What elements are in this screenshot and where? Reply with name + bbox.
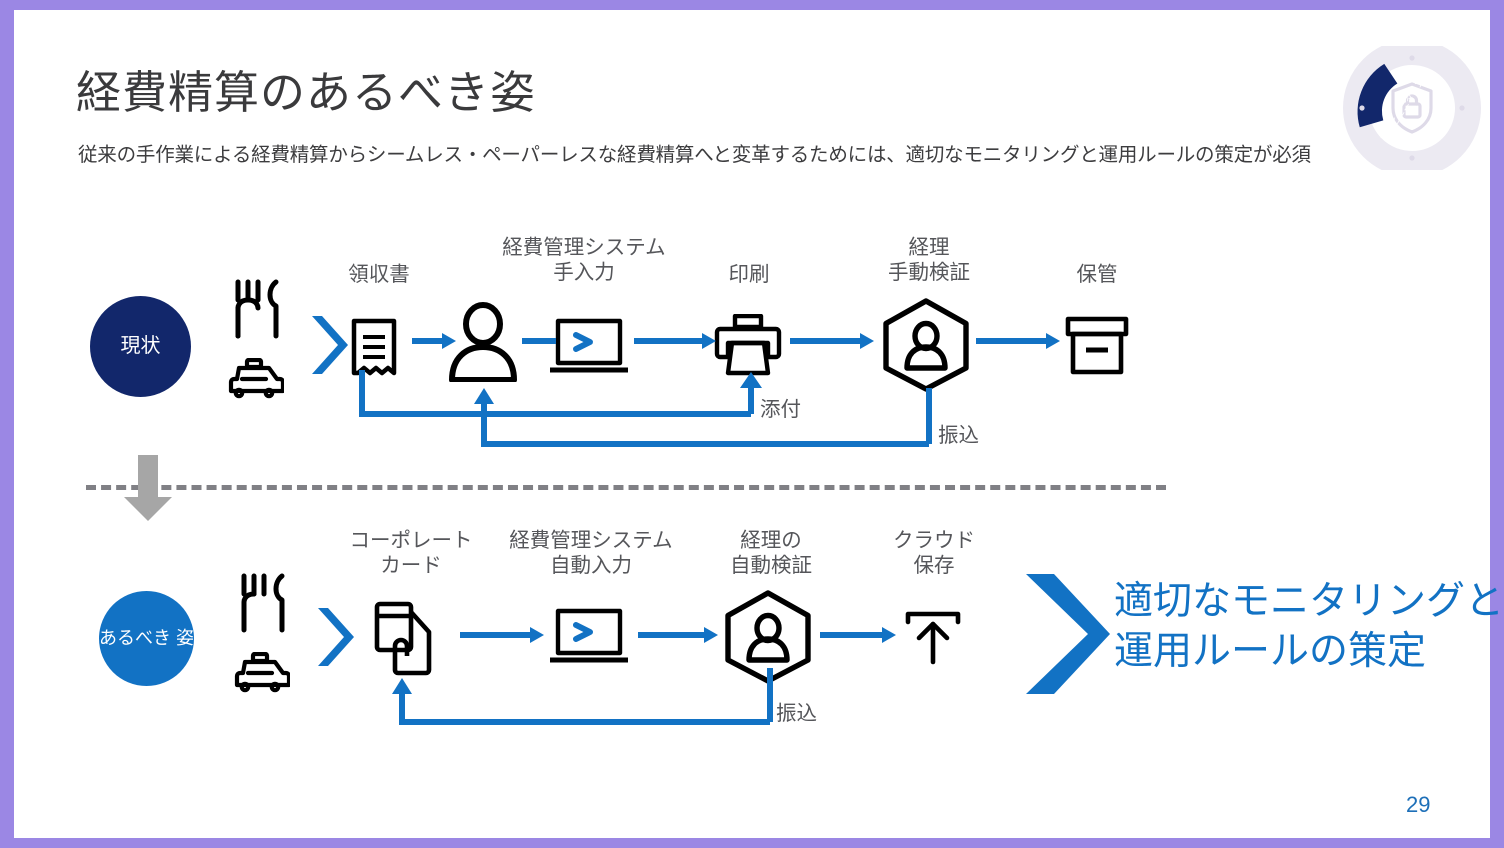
callout-chevron-icon [1020,570,1110,698]
cutlery-icon [232,572,290,634]
callout-line-1: 適切なモニタリングと [1114,577,1464,627]
transition-down-arrow-icon [122,455,174,523]
node-label-corporate-card: コーポレート カード [336,528,486,578]
node-label-accounting-manual: 経理 手動検証 [854,235,1004,285]
governance-badge: 改善とモニタリング [1342,46,1482,170]
flow-arrow [976,332,1062,350]
flow-arrow [460,626,546,644]
node-label-print: 印刷 [684,262,814,287]
status-badge-target-label-2: 姿 [176,628,194,648]
slide-canvas: 経費精算のあるべき姿 従来の手作業による経費精算からシームレス・ペーパーレスな経… [14,10,1490,838]
flow-arrow [820,626,898,644]
flow-arrow [790,332,876,350]
transfer-annotation: 振込 [776,696,817,726]
section-divider [86,485,1166,490]
callout-line-2: 運用ルールの策定 [1114,627,1464,677]
attach-annotation: 添付 [760,392,801,422]
page-number: 29 [1406,792,1430,818]
page-title: 経費精算のあるべき姿 [76,56,976,121]
node-label-storage: 保管 [1032,262,1162,287]
node-label-accounting-auto: 経理の 自動検証 [696,528,846,578]
feedback-loop-transfer [474,382,944,454]
printer-icon [714,314,782,376]
flow-arrow [412,332,458,350]
node-label-cloud-storage: クラウド 保存 [864,528,1004,578]
archive-box-icon [1064,316,1130,376]
node-label-receipt: 領収書 [314,262,444,287]
laptop-icon [548,608,630,664]
chevron-right-icon [314,602,354,672]
status-badge-current: 現状 [90,296,191,397]
laptop-icon [548,318,630,374]
chevron-right-icon [308,310,348,380]
flow-arrow [638,626,720,644]
hexagon-person-icon [880,298,972,392]
status-badge-target-label-1: あるべき [99,628,171,648]
node-label-expense-system-auto: 経費管理システム 自動入力 [481,528,701,578]
flow-arrow [634,332,718,350]
status-badge-target: あるべき 姿 [99,591,194,686]
page-subtitle: 従来の手作業による経費精算からシームレス・ペーパーレスな経費精算へと変革するため… [78,138,1258,167]
cutlery-icon [226,278,284,340]
callout-text: 適切なモニタリングと 運用ルールの策定 [1114,577,1464,677]
transfer-annotation: 振込 [938,418,979,448]
node-label-expense-system-manual: 経費管理システム 手入力 [474,235,694,285]
cloud-upload-icon [902,608,964,666]
feedback-loop-transfer [392,664,782,730]
taxi-icon [230,652,290,694]
flow-arrow [522,332,556,350]
status-badge-current-label: 現状 [121,335,161,358]
taxi-icon [224,358,284,400]
